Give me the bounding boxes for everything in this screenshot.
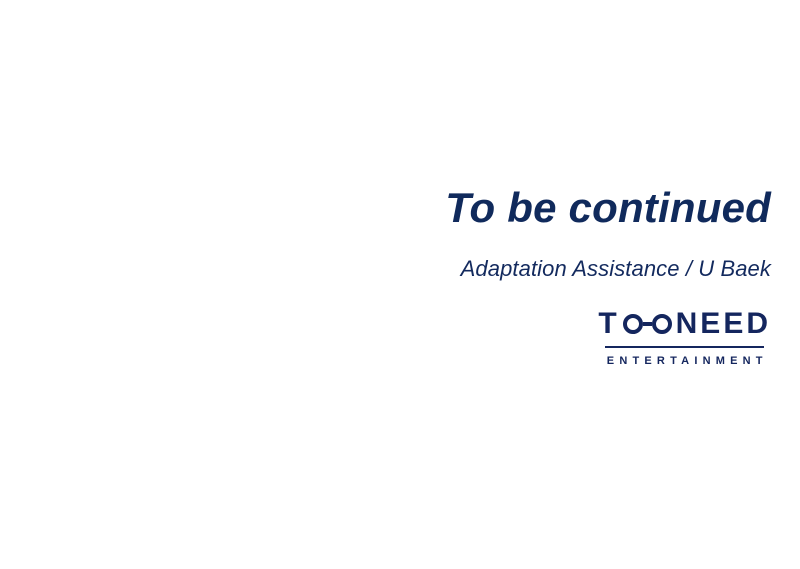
spectacle-ring-right [652,314,672,334]
logo-divider [605,346,764,348]
endcard-canvas: To be continued Adaptation Assistance / … [0,0,800,569]
spectacle-ring-left [623,314,643,334]
credit-subtitle: Adaptation Assistance / U Baek [445,255,771,283]
logo-letters-need: NEED [676,309,771,339]
page-title: To be continued [445,183,771,233]
logo-wordmark: T NEED [598,309,771,339]
tooneed-logo: T NEED ENTERTAINMENT [598,309,771,368]
spectacle-bridge [643,322,652,327]
credit-block: To be continued Adaptation Assistance / … [445,183,771,369]
logo-tagline: ENTERTAINMENT [598,354,771,368]
logo-letter-t: T [598,309,619,339]
spectacles-icon [623,314,672,334]
